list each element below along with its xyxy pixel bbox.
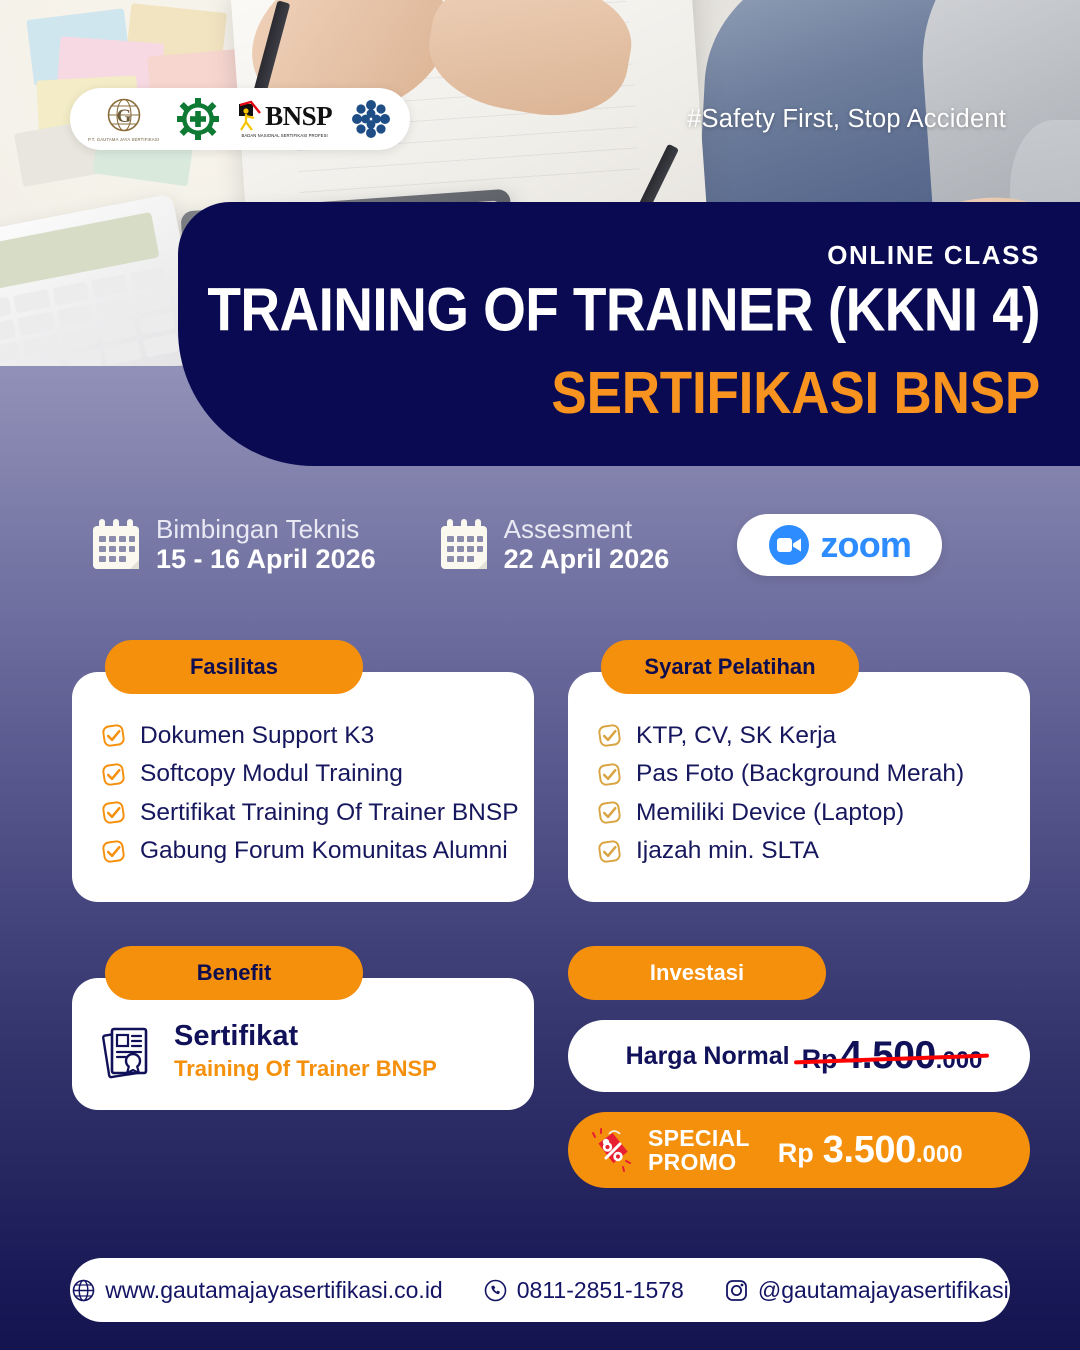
bnsp-logo: BNSP BADAN NASIONAL SERTIFIKASI PROFESI <box>237 100 332 138</box>
schedule-label: Bimbingan Teknis <box>156 515 376 544</box>
normal-price-label: Harga Normal <box>626 1042 790 1071</box>
syarat-heading: Syarat Pelatihan <box>601 640 859 694</box>
title-subtitle: SERTIFIKASI BNSP <box>178 359 1040 427</box>
fasilitas-heading: Fasilitas <box>105 640 363 694</box>
footer-instagram-text: @gautamajayasertifikasi <box>758 1277 1009 1304</box>
normal-price-value: Rp 4.500 .000 <box>802 1034 983 1078</box>
schedule-label: Assesment <box>504 515 670 544</box>
list-item: Sertifikat Training Of Trainer BNSP <box>100 799 534 826</box>
footer-contact-bar: www.gautamajayasertifikasi.co.id 0811-28… <box>70 1258 1010 1322</box>
check-badge-icon <box>100 799 127 826</box>
list-item: Gabung Forum Komunitas Alumni <box>100 837 534 864</box>
list-item: KTP, CV, SK Kerja <box>596 722 1030 749</box>
zoom-platform-badge: zoom <box>737 514 942 576</box>
logo-bar: G P.T. GAUTAMA JAYA SERTIFIKASI <box>70 88 410 150</box>
gautama-logo-caption: P.T. GAUTAMA JAYA SERTIFIKASI <box>88 137 159 142</box>
poster-root: G P.T. GAUTAMA JAYA SERTIFIKASI <box>0 0 1080 1350</box>
k3-gear-logo <box>177 98 219 140</box>
calendar-icon <box>438 518 490 572</box>
promo-label-line1: SPECIAL <box>648 1126 750 1150</box>
list-item: Softcopy Modul Training <box>100 760 534 787</box>
footer-instagram[interactable]: @gautamajayasertifikasi <box>724 1277 1009 1304</box>
check-badge-icon <box>596 722 623 749</box>
list-item-label: KTP, CV, SK Kerja <box>636 722 836 749</box>
check-badge-icon <box>100 838 127 865</box>
title-block: ONLINE CLASS TRAINING OF TRAINER (KKNI 4… <box>178 202 1080 466</box>
schedule-row: Bimbingan Teknis 15 - 16 April 2026 <box>90 500 1050 590</box>
list-item-label: Dokumen Support K3 <box>140 722 374 749</box>
list-item-label: Pas Foto (Background Merah) <box>636 760 964 787</box>
list-item-label: Sertifikat Training Of Trainer BNSP <box>140 799 519 826</box>
schedule-value: 22 April 2026 <box>504 544 670 576</box>
check-badge-icon <box>100 722 127 749</box>
footer-phone[interactable]: 0811-2851-1578 <box>483 1277 684 1304</box>
globe-icon <box>71 1278 96 1303</box>
gautama-jaya-logo: G P.T. GAUTAMA JAYA SERTIFIKASI <box>88 96 159 142</box>
list-item: Ijazah min. SLTA <box>596 837 1030 864</box>
benefit-heading: Benefit <box>105 946 363 1000</box>
title-eyebrow: ONLINE CLASS <box>178 240 1040 271</box>
list-item: Pas Foto (Background Merah) <box>596 760 1030 787</box>
bnsp-logo-caption: BADAN NASIONAL SERTIFIKASI PROFESI <box>241 133 327 138</box>
benefit-heading-text: Sertifikat <box>174 1021 437 1053</box>
discount-tag-icon <box>590 1128 634 1172</box>
list-item-label: Ijazah min. SLTA <box>636 837 819 864</box>
list-item: Dokumen Support K3 <box>100 722 534 749</box>
promo-price-row: SPECIAL PROMO Rp 3.500 .000 <box>568 1112 1030 1188</box>
check-badge-icon <box>596 761 623 788</box>
syarat-card: KTP, CV, SK Kerja Pas Foto (Background M… <box>568 672 1030 902</box>
benefit-subheading-text: Training Of Trainer BNSP <box>174 1056 437 1082</box>
check-badge-icon <box>100 761 127 788</box>
instagram-icon <box>724 1278 749 1303</box>
hashtag-tagline: #Safety First, Stop Accident <box>687 105 1006 134</box>
schedule-item-bimbingan: Bimbingan Teknis 15 - 16 April 2026 <box>90 515 376 576</box>
promo-label: SPECIAL PROMO <box>648 1126 750 1175</box>
list-item-label: Memiliki Device (Laptop) <box>636 799 904 826</box>
zoom-wordmark: zoom <box>820 524 911 566</box>
list-item: Memiliki Device (Laptop) <box>596 799 1030 826</box>
currency-symbol: Rp <box>778 1138 814 1169</box>
promo-price-value: Rp 3.500 .000 <box>778 1129 963 1172</box>
footer-website-text: www.gautamajayasertifikasi.co.id <box>105 1277 442 1304</box>
bnsp-wordmark: BNSP <box>265 103 332 130</box>
promo-price-decimals: .000 <box>916 1141 963 1169</box>
promo-label-line2: PROMO <box>648 1150 750 1174</box>
svg-text:G: G <box>116 106 131 127</box>
certificate-icon <box>100 1023 158 1081</box>
page-title: TRAINING OF TRAINER (KKNI 4) <box>178 273 1040 345</box>
phone-icon <box>483 1278 508 1303</box>
schedule-item-assesment: Assesment 22 April 2026 <box>438 515 670 576</box>
fasilitas-card: Dokumen Support K3 Softcopy Modul Traini… <box>72 672 534 902</box>
bnsp-flower-logo <box>350 98 392 140</box>
footer-website[interactable]: www.gautamajayasertifikasi.co.id <box>71 1277 442 1304</box>
normal-price-row: Harga Normal Rp 4.500 .000 <box>568 1020 1030 1092</box>
footer-phone-text: 0811-2851-1578 <box>517 1277 684 1304</box>
list-item-label: Gabung Forum Komunitas Alumni <box>140 837 508 864</box>
check-badge-icon <box>596 799 623 826</box>
check-badge-icon <box>596 838 623 865</box>
schedule-value: 15 - 16 April 2026 <box>156 544 376 576</box>
calendar-icon <box>90 518 142 572</box>
investasi-heading: Investasi <box>568 946 826 1000</box>
zoom-camera-icon <box>768 524 810 566</box>
list-item-label: Softcopy Modul Training <box>140 760 403 787</box>
promo-price-amount: 3.500 <box>823 1129 916 1172</box>
normal-price-decimals: .000 <box>936 1047 983 1075</box>
